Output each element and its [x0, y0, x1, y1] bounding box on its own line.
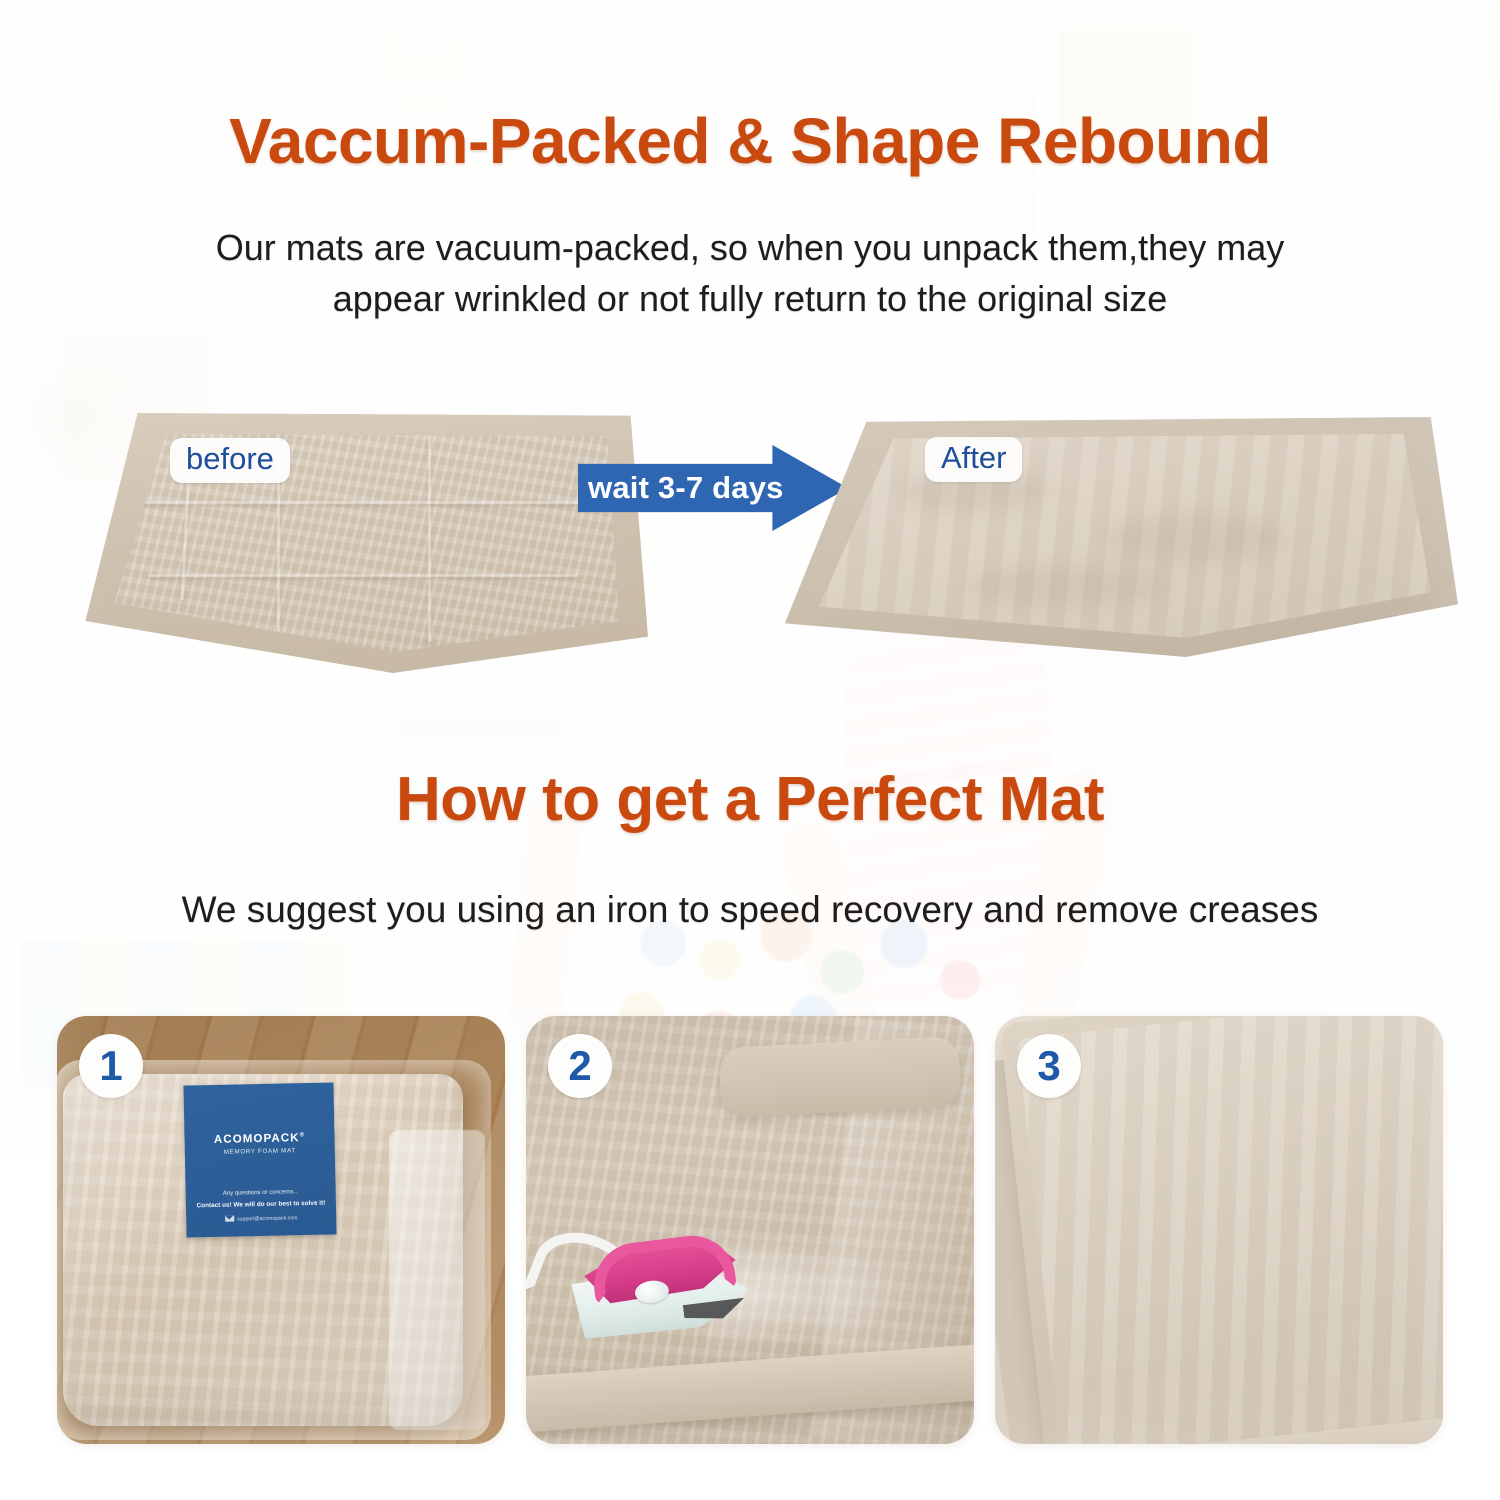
step-panel-2: 2 [526, 1016, 974, 1444]
content-layer: Vaccum-Packed & Shape Rebound Our mats a… [0, 0, 1500, 1500]
step-panel-1: ACOMOPACK® MEMORY FOAM MAT Any questions… [57, 1016, 505, 1444]
crease-line [428, 434, 431, 642]
section-one-subtext-line-2: appear wrinkled or not fully return to t… [0, 273, 1500, 324]
crease-line [138, 501, 590, 504]
brand-text: ACOMOPACK [214, 1132, 300, 1146]
section-one-subtext: Our mats are vacuum-packed, so when you … [0, 222, 1500, 324]
marketing-infographic: Vaccum-Packed & Shape Rebound Our mats a… [0, 0, 1500, 1500]
mat-after-image [778, 417, 1458, 657]
step-panels: ACOMOPACK® MEMORY FOAM MAT Any questions… [0, 1016, 1500, 1446]
trademark-icon: ® [300, 1132, 306, 1138]
finished-mat-surface [1017, 1016, 1443, 1444]
section-one-headline: Vaccum-Packed & Shape Rebound [0, 104, 1500, 178]
mat-before-image [68, 413, 648, 673]
email-text: support@acomopack.com [237, 1215, 297, 1222]
product-label-card: ACOMOPACK® MEMORY FOAM MAT Any questions… [183, 1082, 336, 1237]
before-after-comparison: before wait 3-7 days After [0, 395, 1500, 690]
after-label: After [925, 437, 1022, 482]
label-contact-line: Contact us! We will do our best to solve… [186, 1199, 336, 1209]
section-two-headline: How to get a Perfect Mat [0, 764, 1500, 835]
label-email-line: support@acomopack.com [186, 1213, 336, 1223]
product-type: MEMORY FOAM MAT [185, 1146, 335, 1156]
fabric-texture [1104, 513, 1284, 563]
brand-name: ACOMOPACK® [184, 1131, 334, 1146]
section-one-subtext-line-1: Our mats are vacuum-packed, so when you … [0, 222, 1500, 273]
envelope-icon [225, 1216, 234, 1222]
plastic-fold [389, 1130, 485, 1430]
crease-line [149, 574, 578, 577]
step-badge-2: 2 [548, 1034, 612, 1098]
before-label: before [170, 438, 290, 483]
step-badge-1: 1 [79, 1034, 143, 1098]
step-badge-3: 3 [1017, 1034, 1081, 1098]
section-two-subtext: We suggest you using an iron to speed re… [0, 884, 1500, 937]
fabric-texture [968, 566, 1168, 606]
mat-corner-edge [718, 1036, 961, 1118]
label-question-line: Any questions or concerns... [186, 1188, 336, 1197]
step-panel-3: 3 [995, 1016, 1443, 1444]
crease-line [181, 470, 191, 600]
